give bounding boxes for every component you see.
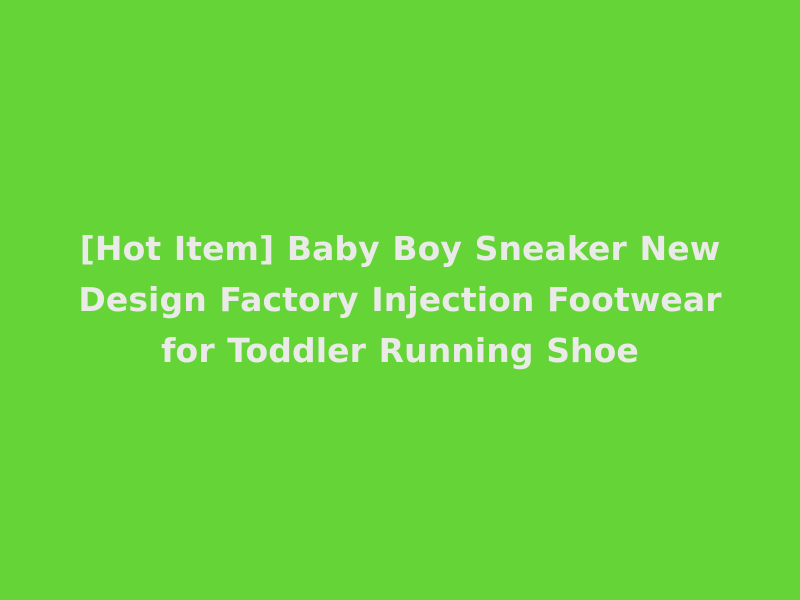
page-title: [Hot Item] Baby Boy Sneaker New Design F… (60, 223, 740, 376)
image-placeholder-card: [Hot Item] Baby Boy Sneaker New Design F… (0, 0, 800, 600)
placeholder-title-block: [Hot Item] Baby Boy Sneaker New Design F… (50, 223, 750, 376)
